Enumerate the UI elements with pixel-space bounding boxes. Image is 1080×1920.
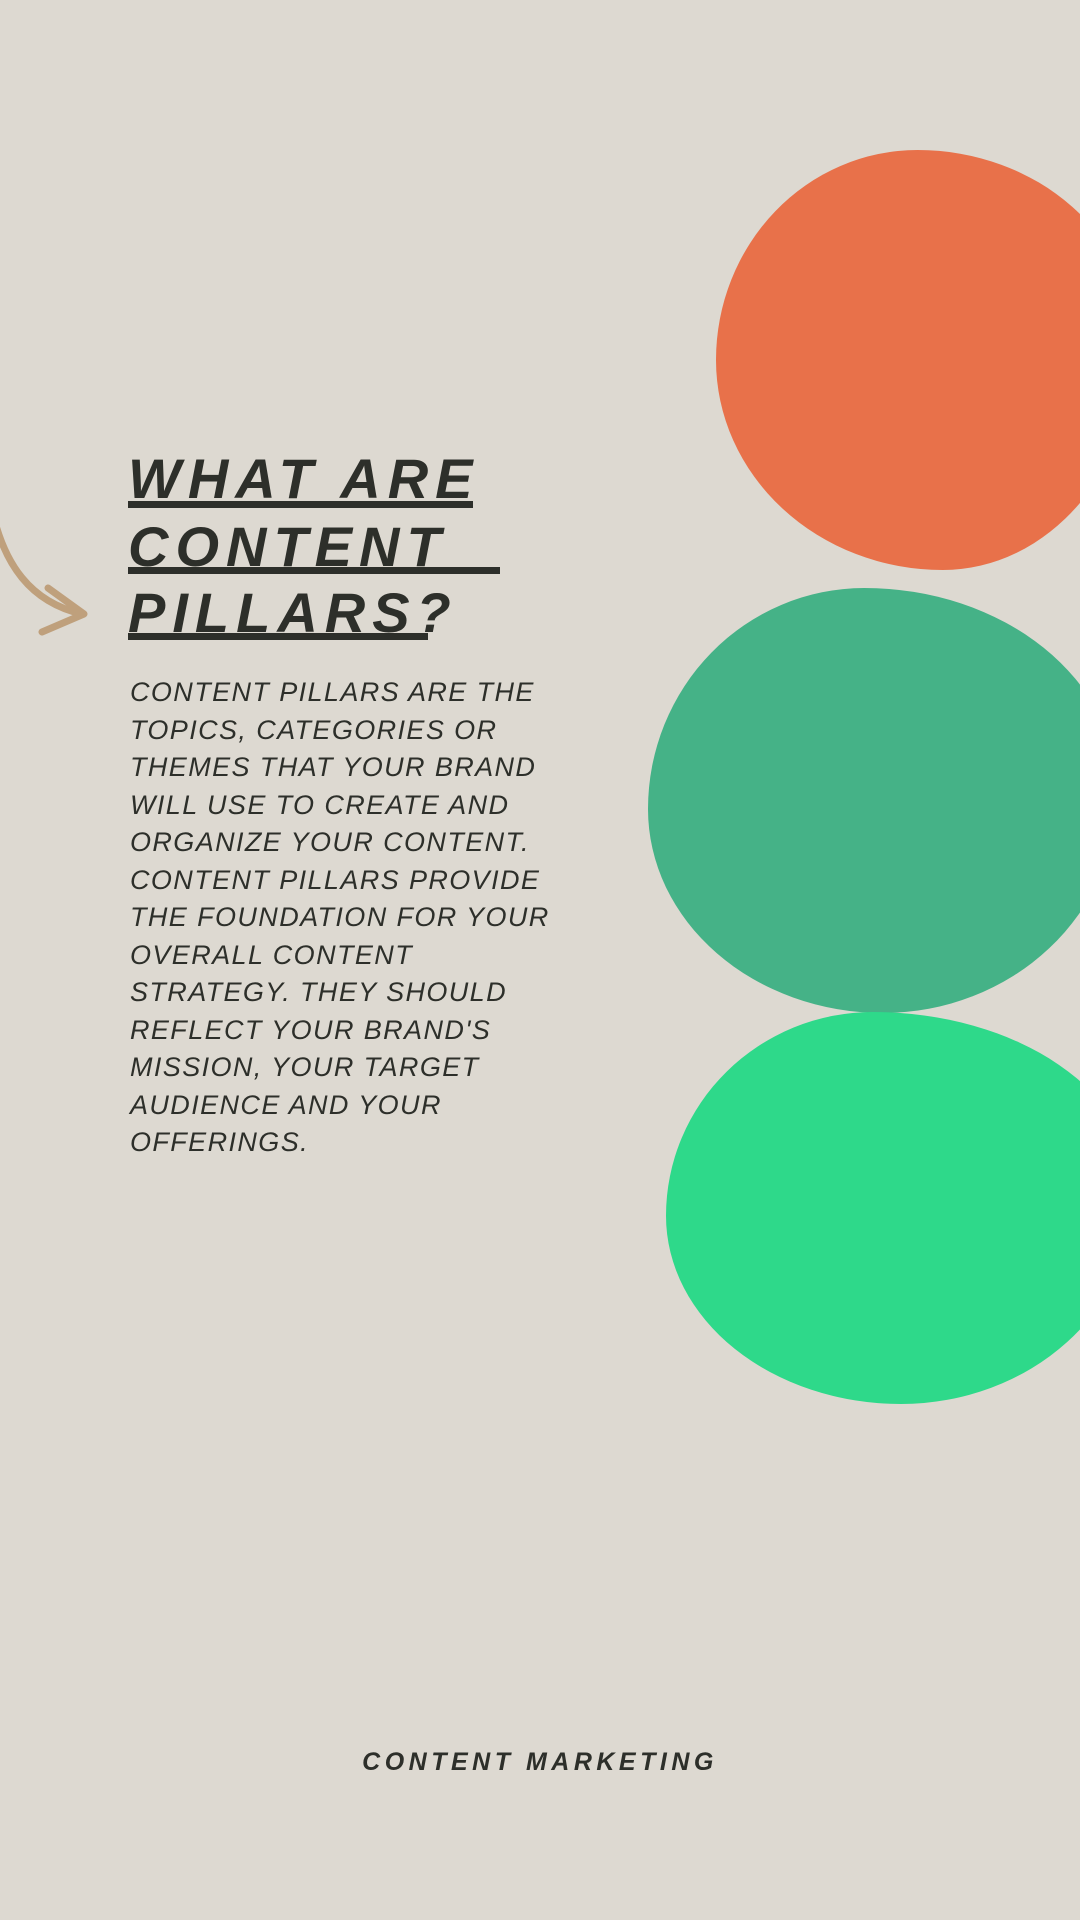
body-line: THEMES THAT YOUR BRAND — [130, 749, 600, 787]
body-line: CONTENT PILLARS PROVIDE — [130, 862, 600, 900]
footer-caption: CONTENT MARKETING — [0, 1748, 1080, 1777]
heading-line-1: WHAT ARE — [128, 446, 598, 514]
body-line: MISSION, YOUR TARGET — [130, 1049, 600, 1087]
blob-orange-shape — [716, 150, 1080, 570]
blob-teal-shape — [648, 588, 1080, 1013]
heading-line-3: PILLARS? — [128, 580, 598, 646]
body-line: AUDIENCE AND YOUR — [130, 1087, 600, 1125]
body-line: STRATEGY. THEY SHOULD — [130, 974, 600, 1012]
body-line: CONTENT PILLARS ARE THE — [130, 674, 600, 712]
heading-underline-2 — [128, 567, 500, 574]
heading-line-2: CONTENT — [128, 514, 598, 580]
body-line: THE FOUNDATION FOR YOUR — [130, 899, 600, 937]
body-line: OFFERINGS. — [130, 1124, 600, 1162]
page-title: WHAT ARE CONTENT PILLARS? — [128, 446, 598, 646]
curved-arrow-icon — [0, 492, 120, 672]
blob-green-shape — [666, 1012, 1080, 1404]
body-line: OVERALL CONTENT — [130, 937, 600, 975]
body-line: ORGANIZE YOUR CONTENT. — [130, 824, 600, 862]
body-paragraph: CONTENT PILLARS ARE THE TOPICS, CATEGORI… — [130, 674, 600, 1162]
heading-underline-3 — [128, 633, 428, 640]
body-line: WILL USE TO CREATE AND — [130, 787, 600, 825]
heading-underline-1 — [128, 501, 473, 508]
body-line: TOPICS, CATEGORIES OR — [130, 712, 600, 750]
poster-canvas: WHAT ARE CONTENT PILLARS? CONTENT PILLAR… — [0, 0, 1080, 1920]
body-line: REFLECT YOUR BRAND'S — [130, 1012, 600, 1050]
